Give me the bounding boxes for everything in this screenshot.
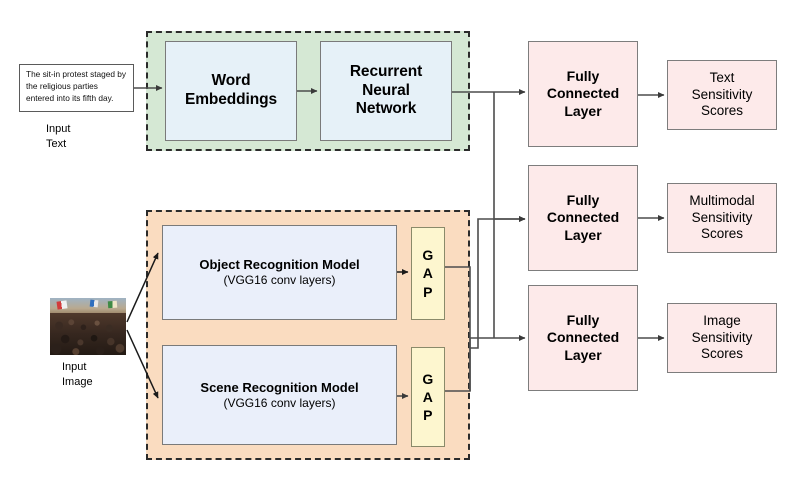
diagram-canvas: The sit-in protest staged by the religio…: [0, 0, 805, 477]
fc-multimodal-line2: Connected: [547, 209, 619, 226]
input-image-thumbnail: [50, 298, 126, 355]
text-scores-line3: Scores: [701, 103, 743, 119]
input-image-caption-line2: Image: [62, 375, 152, 390]
image-scores-line2: Sensitivity: [692, 330, 753, 346]
multimodal-scores-line2: Sensitivity: [692, 210, 753, 226]
word-embeddings-line2: Embeddings: [185, 91, 277, 110]
object-recognition-model-box: Object Recognition Model (VGG16 conv lay…: [162, 225, 397, 320]
input-text-caption: Input Text: [46, 122, 136, 152]
input-text-sample: The sit-in protest staged by the religio…: [20, 65, 133, 108]
fc-multimodal-line3: Layer: [564, 227, 601, 244]
gap-scene-letter-3: P: [423, 406, 433, 424]
image-sensitivity-scores-box: Image Sensitivity Scores: [667, 303, 777, 373]
multimodal-scores-line1: Multimodal: [689, 193, 754, 209]
fully-connected-layer-text: Fully Connected Layer: [528, 41, 638, 147]
input-image-caption: Input Image: [62, 360, 152, 390]
fc-text-line1: Fully: [567, 68, 600, 85]
rnn-line2: Neural: [362, 82, 410, 101]
gap-object-letter-3: P: [423, 283, 433, 301]
fc-image-line2: Connected: [547, 329, 619, 346]
multimodal-sensitivity-scores-box: Multimodal Sensitivity Scores: [667, 183, 777, 253]
input-text-box: The sit-in protest staged by the religio…: [19, 64, 134, 112]
fully-connected-layer-multimodal: Fully Connected Layer: [528, 165, 638, 271]
photo-flag-3-icon: [108, 301, 118, 308]
wire-text-to-multimodal-branch: [494, 92, 525, 219]
object-model-subtitle: (VGG16 conv layers): [223, 273, 335, 288]
gap-object-letter-2: A: [423, 264, 433, 282]
recurrent-neural-network-box: Recurrent Neural Network: [320, 41, 452, 141]
fc-image-line1: Fully: [567, 312, 600, 329]
multimodal-scores-line3: Scores: [701, 226, 743, 242]
gap-scene-letter-2: A: [423, 388, 433, 406]
rnn-line3: Network: [356, 100, 416, 119]
fc-image-line3: Layer: [564, 347, 601, 364]
input-text-caption-line2: Text: [46, 137, 136, 152]
photo-crowd: [50, 313, 126, 355]
gap-object-letter-1: G: [422, 246, 433, 264]
object-model-title: Object Recognition Model: [199, 257, 359, 273]
fc-text-line2: Connected: [547, 85, 619, 102]
text-scores-line2: Sensitivity: [692, 87, 753, 103]
fully-connected-layer-image: Fully Connected Layer: [528, 285, 638, 391]
scene-model-subtitle: (VGG16 conv layers): [223, 396, 335, 411]
rnn-line1: Recurrent: [350, 63, 422, 82]
scene-recognition-model-box: Scene Recognition Model (VGG16 conv laye…: [162, 345, 397, 445]
input-text-caption-line1: Input: [46, 122, 136, 137]
wire-image-bus-to-fc-image: [470, 338, 525, 391]
photo-flag-1-icon: [56, 300, 67, 309]
text-sensitivity-scores-box: Text Sensitivity Scores: [667, 60, 777, 130]
wire-image-bus-to-multimodal: [470, 219, 525, 348]
fc-multimodal-line1: Fully: [567, 192, 600, 209]
text-scores-line1: Text: [710, 70, 735, 86]
image-scores-line3: Scores: [701, 346, 743, 362]
scene-model-title: Scene Recognition Model: [200, 380, 358, 396]
photo-flag-2-icon: [89, 299, 98, 307]
input-image-caption-line1: Input: [62, 360, 152, 375]
gap-box-scene: G A P: [411, 347, 445, 447]
gap-scene-letter-1: G: [422, 370, 433, 388]
fc-text-line3: Layer: [564, 103, 601, 120]
image-scores-line1: Image: [703, 313, 741, 329]
word-embeddings-line1: Word: [212, 72, 251, 91]
gap-box-object: G A P: [411, 227, 445, 320]
word-embeddings-box: Word Embeddings: [165, 41, 297, 141]
